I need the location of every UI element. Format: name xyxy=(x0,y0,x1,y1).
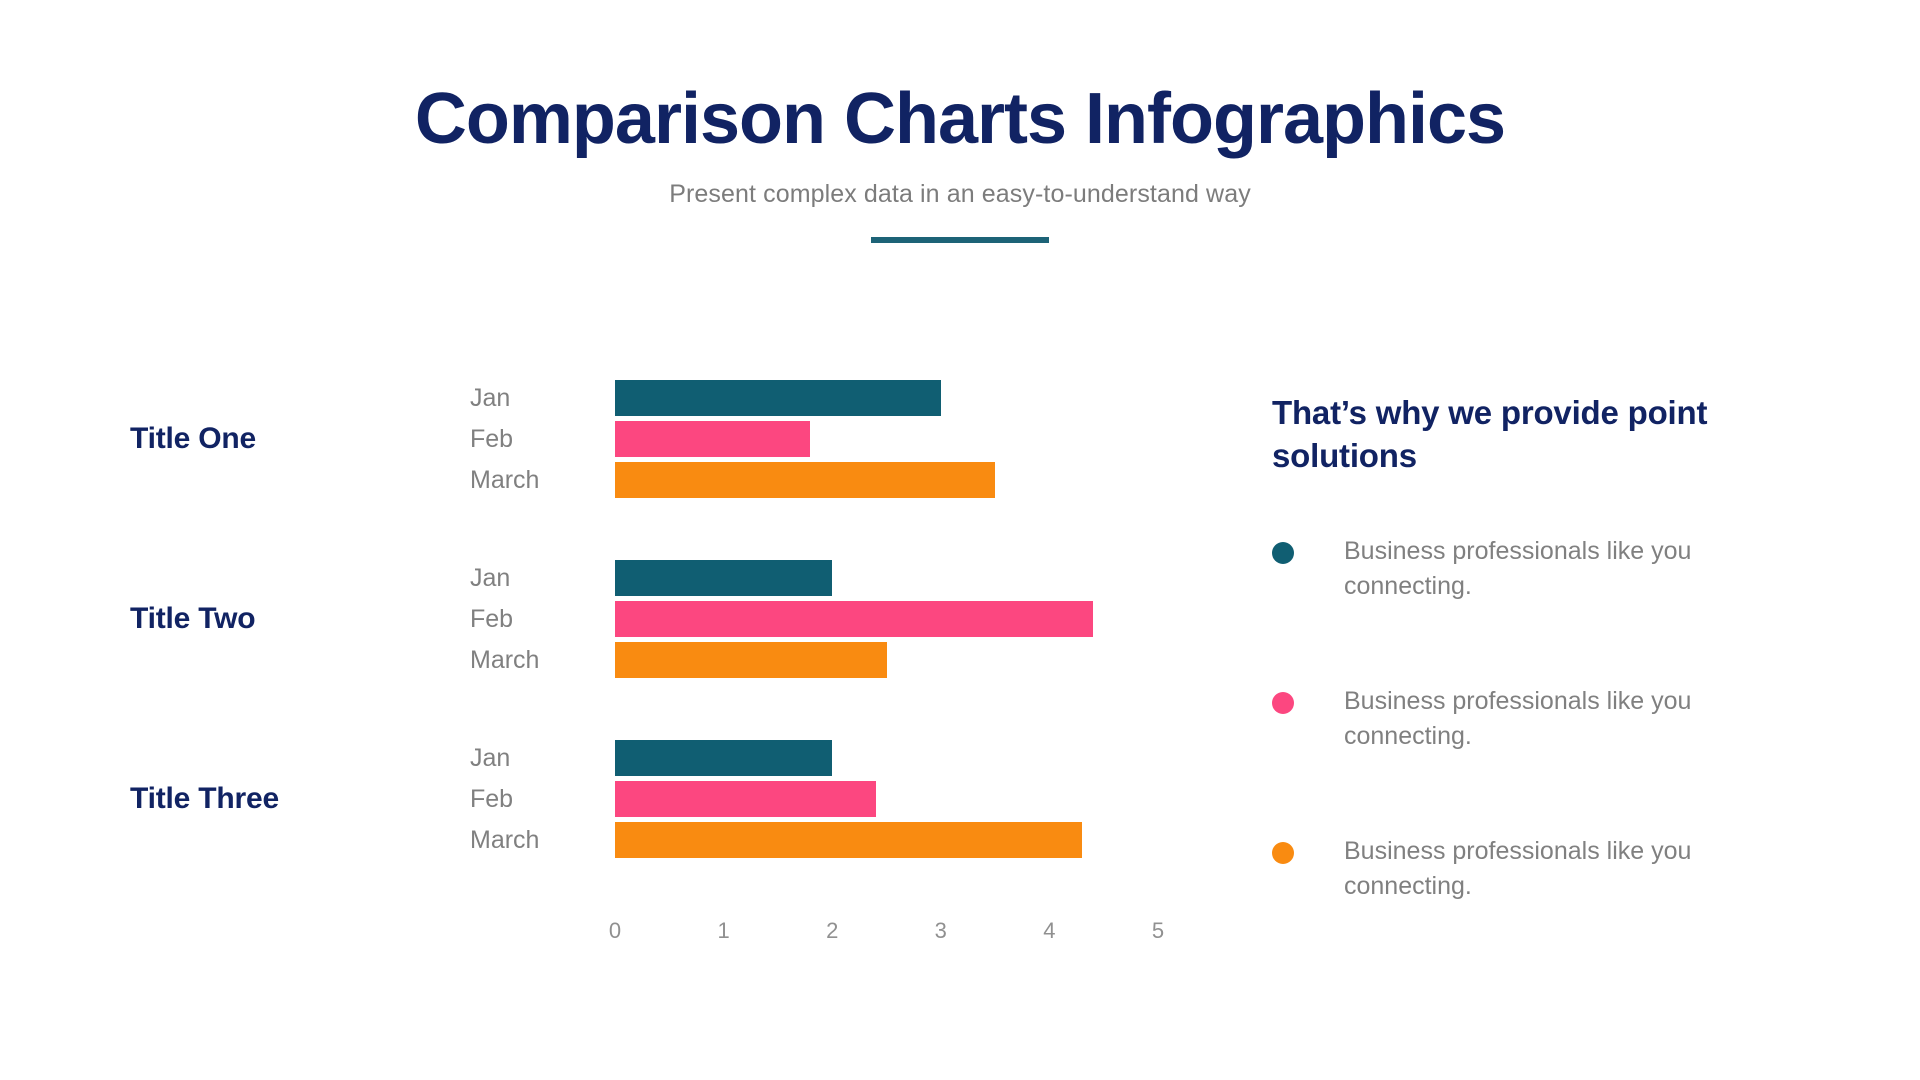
bullet-list: Business professionals like you connecti… xyxy=(1272,534,1792,910)
x-axis-tick-label: 2 xyxy=(826,918,838,944)
month-label: Feb xyxy=(470,601,600,637)
bullet-text: Business professionals like you connecti… xyxy=(1344,534,1694,604)
comparison-bar-chart: Title OneJanFebMarchTitle TwoJanFebMarch… xyxy=(0,380,1250,920)
bar xyxy=(615,601,1093,637)
chart-group-title: Title Three xyxy=(130,782,460,816)
chart-group-title: Title One xyxy=(130,422,460,456)
month-label: Jan xyxy=(470,380,600,416)
x-axis-tick-label: 5 xyxy=(1152,918,1164,944)
bar-column xyxy=(615,560,1215,678)
bullet-text: Business professionals like you connecti… xyxy=(1344,684,1694,754)
bar xyxy=(615,642,887,678)
chart-group-title: Title Two xyxy=(130,602,460,636)
x-axis-tick-label: 3 xyxy=(935,918,947,944)
bar xyxy=(615,462,995,498)
month-label-column: JanFebMarch xyxy=(470,560,600,678)
month-label: Jan xyxy=(470,560,600,596)
x-axis-tick-label: 4 xyxy=(1043,918,1055,944)
bar xyxy=(615,740,832,776)
slide-header: Comparison Charts Infographics Present c… xyxy=(0,0,1920,243)
bullet-list-item: Business professionals like you connecti… xyxy=(1272,834,1792,910)
side-panel: That’s why we provide point solutions Bu… xyxy=(1272,392,1792,984)
x-axis: 012345 xyxy=(615,918,1158,948)
bar-column xyxy=(615,740,1215,858)
bullet-list-item: Business professionals like you connecti… xyxy=(1272,534,1792,610)
month-label: March xyxy=(470,822,600,858)
month-label-column: JanFebMarch xyxy=(470,380,600,498)
page-title: Comparison Charts Infographics xyxy=(0,82,1920,158)
chart-group: Title OneJanFebMarch xyxy=(0,380,1250,498)
month-label: Feb xyxy=(470,781,600,817)
bullet-dot-teal-icon xyxy=(1272,542,1294,564)
bullet-list-item: Business professionals like you connecti… xyxy=(1272,684,1792,760)
chart-group: Title TwoJanFebMarch xyxy=(0,560,1250,678)
bar xyxy=(615,781,876,817)
bar xyxy=(615,560,832,596)
title-underline-rule xyxy=(871,237,1049,243)
bullet-dot-orange-icon xyxy=(1272,842,1294,864)
x-axis-tick-label: 0 xyxy=(609,918,621,944)
bar-column xyxy=(615,380,1215,498)
chart-group-list: Title OneJanFebMarchTitle TwoJanFebMarch… xyxy=(0,380,1250,858)
bar xyxy=(615,421,810,457)
x-axis-tick-label: 1 xyxy=(717,918,729,944)
month-label: March xyxy=(470,642,600,678)
chart-group: Title ThreeJanFebMarch xyxy=(0,740,1250,858)
bullet-dot-pink-icon xyxy=(1272,692,1294,714)
month-label-column: JanFebMarch xyxy=(470,740,600,858)
bar xyxy=(615,822,1082,858)
bar xyxy=(615,380,941,416)
page-subtitle: Present complex data in an easy-to-under… xyxy=(0,180,1920,209)
month-label: Feb xyxy=(470,421,600,457)
bullet-text: Business professionals like you connecti… xyxy=(1344,834,1694,904)
month-label: March xyxy=(470,462,600,498)
infographic-slide: Comparison Charts Infographics Present c… xyxy=(0,0,1920,1080)
side-panel-heading: That’s why we provide point solutions xyxy=(1272,392,1722,478)
month-label: Jan xyxy=(470,740,600,776)
